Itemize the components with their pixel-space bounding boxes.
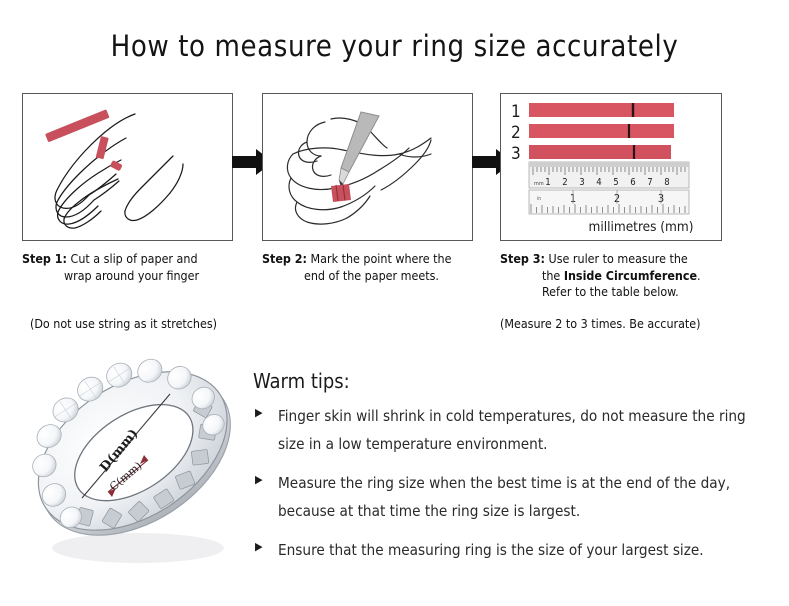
svg-text:7: 7: [647, 177, 652, 188]
imperial-ruler: 123 in: [529, 190, 689, 214]
ruler-and-strips-diagram: 1 2 3: [501, 94, 721, 240]
tip-item: ▶ Ensure that the measuring ring is the …: [253, 536, 773, 564]
instruction-graphic: How to measure your ring size accurately: [0, 0, 789, 606]
hand-paper-slip-drawing: [23, 94, 232, 240]
step-1-label: Step 1:: [22, 251, 67, 266]
svg-text:mm: mm: [534, 181, 544, 187]
step-1-line1: Cut a slip of paper and: [71, 251, 198, 266]
paper-slip-red: [45, 109, 123, 171]
strip-label-3: 3: [511, 144, 521, 164]
step-3-inside-circumference: Inside Circumference: [564, 268, 697, 283]
strip-label-1: 1: [511, 102, 521, 122]
warm-tips-heading: Warm tips:: [253, 369, 350, 393]
bullet-triangle-icon: ▶: [255, 403, 263, 423]
svg-text:6: 6: [630, 177, 635, 188]
hand-pen-mark-drawing: [263, 94, 472, 240]
ruler-unit-caption: millimetres (mm): [589, 219, 694, 235]
tip-item: ▶ Finger skin will shrink in cold temper…: [253, 402, 773, 458]
step-2-illustration-panel: [262, 93, 473, 241]
step-3-line2-pre: the: [542, 268, 564, 283]
bullet-triangle-icon: ▶: [255, 470, 263, 490]
svg-text:4: 4: [596, 177, 601, 188]
step-1-note: (Do not use string as it stretches): [30, 316, 217, 331]
step-3-note: (Measure 2 to 3 times. Be accurate): [500, 316, 701, 331]
svg-text:8: 8: [664, 177, 669, 188]
step-2-line1: Mark the point where the: [311, 251, 452, 266]
bullet-triangle-icon: ▶: [255, 537, 263, 557]
diamond-eternity-ring-image: D(mm) C(mm): [18, 352, 254, 584]
tip-text: Ensure that the measuring ring is the si…: [278, 541, 704, 559]
metric-ruler: 123 456 78 mm: [529, 162, 689, 188]
step-3-caption: Step 3: Use ruler to measure the the Ins…: [500, 251, 770, 301]
ring-measurement-figure: D(mm) C(mm): [18, 352, 254, 584]
tip-text: Measure the ring size when the best time…: [278, 474, 730, 520]
step-2-label: Step 2:: [262, 251, 307, 266]
step-1-illustration-panel: [22, 93, 233, 241]
step-3-line2: the Inside Circumference.: [500, 268, 770, 285]
svg-text:3: 3: [579, 177, 584, 188]
step-3-illustration-panel: 1 2 3: [500, 93, 722, 241]
svg-text:in: in: [537, 196, 541, 202]
step-1-line2: wrap around your finger: [22, 268, 257, 285]
step-3-label: Step 3:: [500, 251, 545, 266]
step-2-caption: Step 2: Mark the point where the end of …: [262, 251, 502, 284]
step-3-line1: Use ruler to measure the: [549, 251, 688, 266]
strip-label-2: 2: [511, 123, 521, 143]
step-3-line2-post: .: [697, 268, 701, 283]
svg-text:1: 1: [545, 177, 550, 188]
step-3-line3: Refer to the table below.: [500, 284, 770, 301]
warm-tips-list: ▶ Finger skin will shrink in cold temper…: [253, 402, 773, 575]
svg-text:2: 2: [562, 177, 567, 188]
tip-text: Finger skin will shrink in cold temperat…: [278, 407, 746, 453]
step-2-line2: end of the paper meets.: [262, 268, 502, 285]
svg-text:5: 5: [613, 177, 618, 188]
page-title: How to measure your ring size accurately: [0, 29, 789, 63]
tip-item: ▶ Measure the ring size when the best ti…: [253, 469, 773, 525]
step-1-caption: Step 1: Cut a slip of paper and wrap aro…: [22, 251, 257, 284]
paper-ring-red: [331, 184, 351, 202]
